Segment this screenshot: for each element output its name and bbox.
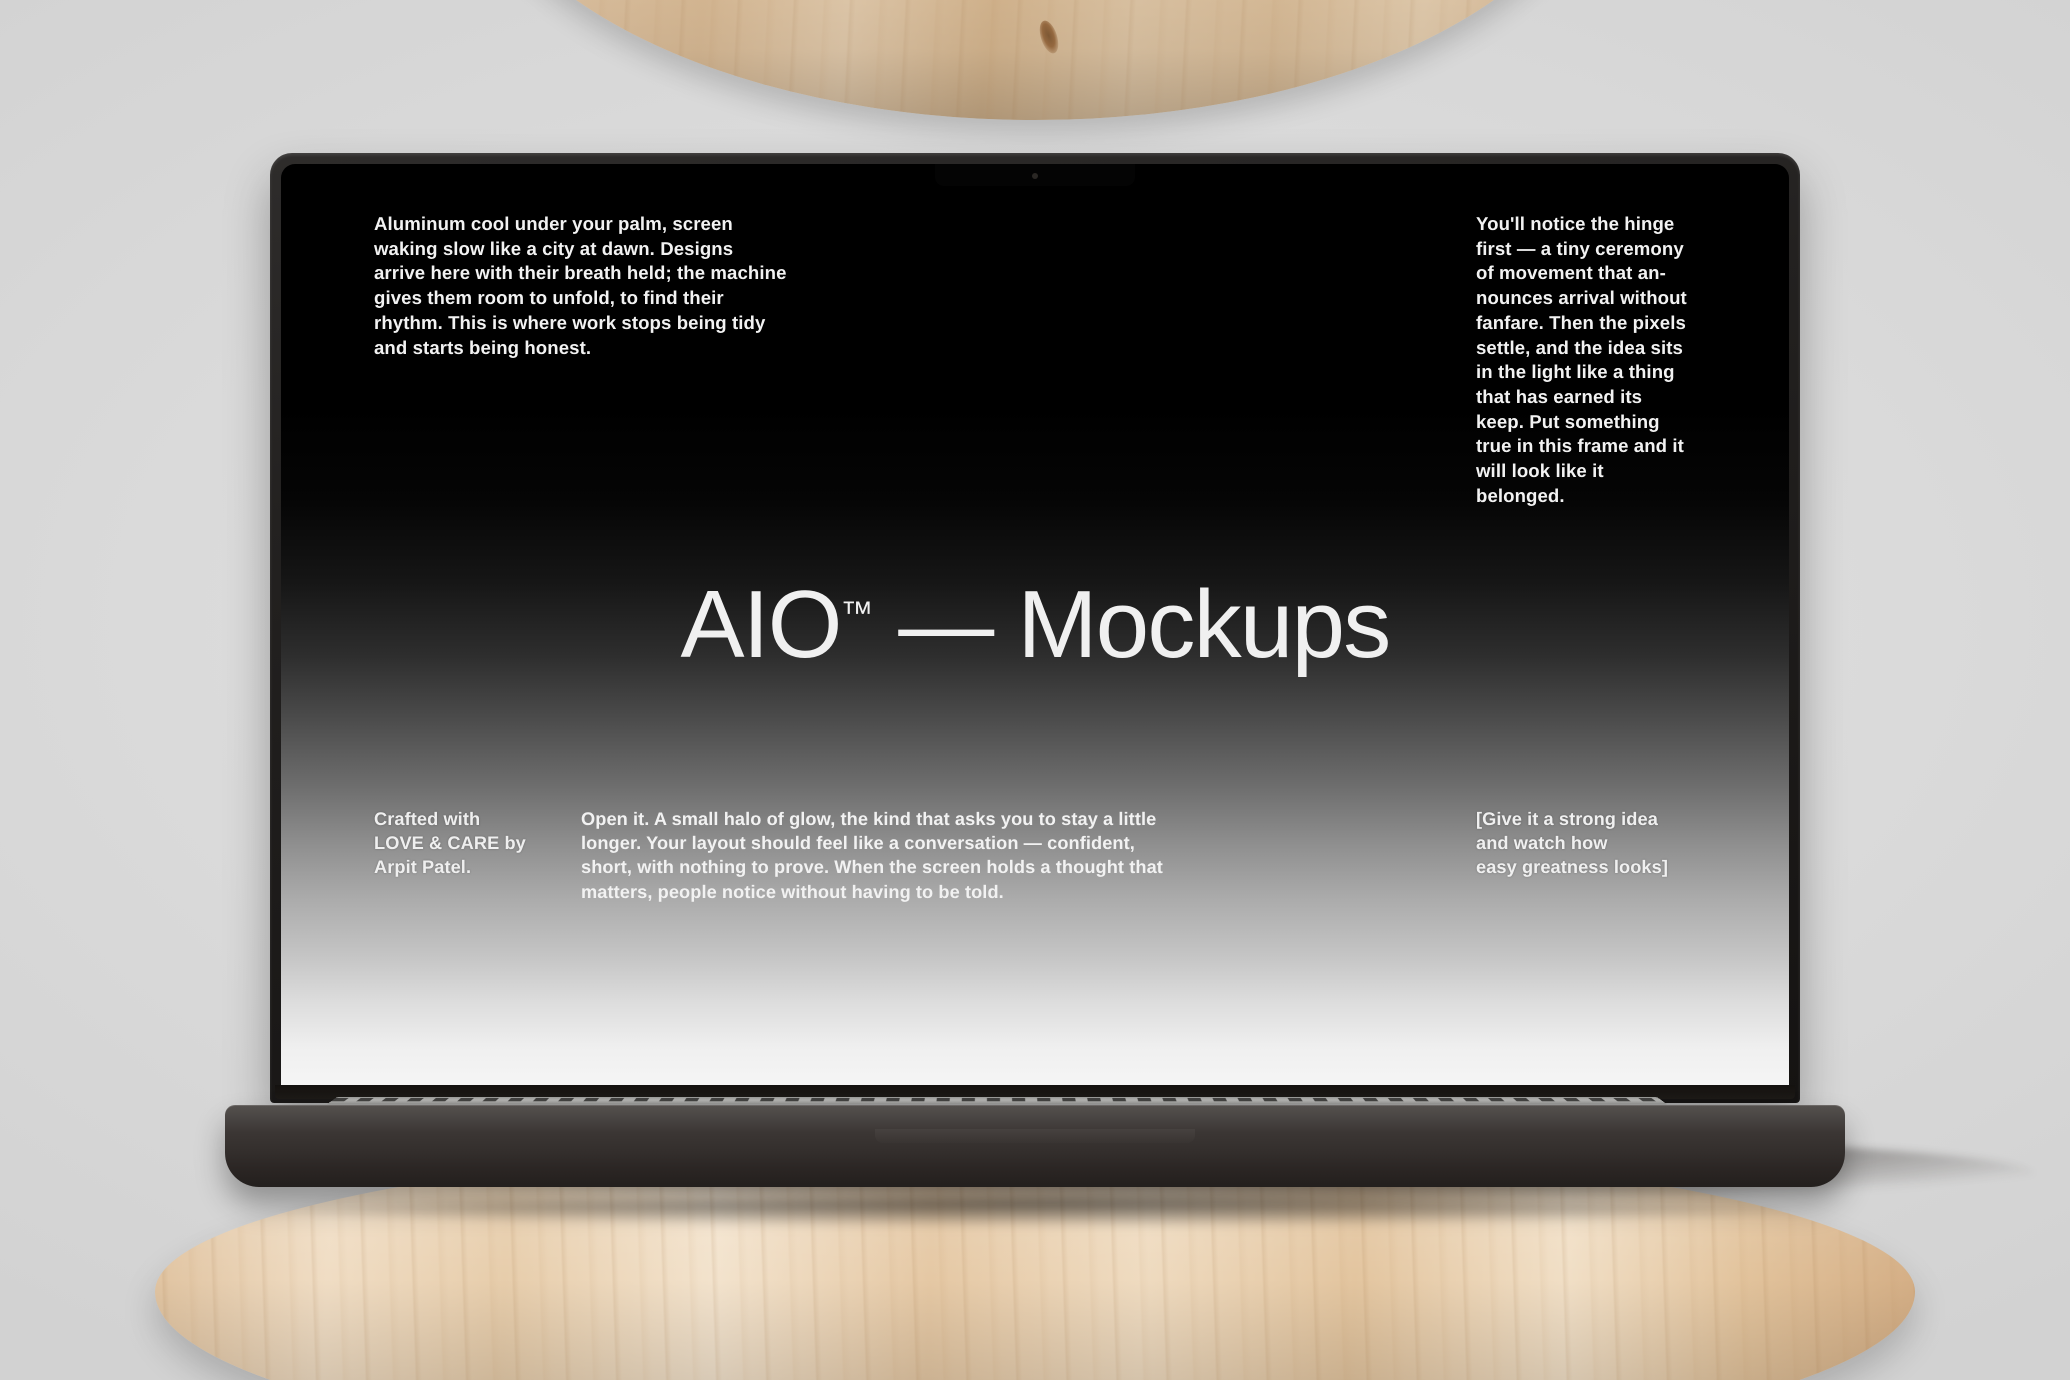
wood-knot: [1036, 18, 1062, 55]
laptop-lid: Aluminum cool under your palm, screen wa…: [270, 153, 1800, 1103]
hero-title: AIO™ — Mockups: [281, 577, 1789, 673]
hero-separator: —: [873, 571, 1017, 678]
credit-block: Crafted with LOVE & CARE by Arpit Patel.: [374, 807, 574, 880]
note-line-3: easy greatness looks]: [1476, 857, 1668, 877]
hero-brand: AIO: [680, 571, 840, 678]
credit-line-2: LOVE & CARE by: [374, 833, 526, 853]
top-left-paragraph: Aluminum cool under your palm, screen wa…: [374, 212, 789, 360]
chair-backrest-panel: [465, 0, 1605, 120]
bottom-center-paragraph: Open it. A small halo of glow, the kind …: [581, 807, 1181, 904]
top-right-paragraph: You'll notice the hinge first — a tiny c…: [1476, 212, 1694, 509]
webcam-icon: [1032, 173, 1038, 179]
hero-product: Mockups: [1017, 571, 1389, 678]
credit-line-3: Arpit Patel.: [374, 857, 471, 877]
bottom-right-note: [Give it a strong idea and watch how eas…: [1476, 807, 1694, 880]
keyboard-keys[interactable]: [331, 1098, 1663, 1101]
scene-root: Aluminum cool under your palm, screen wa…: [0, 0, 2070, 1380]
laptop-screen[interactable]: Aluminum cool under your palm, screen wa…: [281, 164, 1789, 1094]
note-line-2: and watch how: [1476, 833, 1608, 853]
keyboard-deck[interactable]: [326, 1097, 1667, 1105]
chair-backrest: [465, 0, 1605, 120]
laptop-contact-shadow: [265, 1199, 1805, 1225]
trademark-symbol: ™: [841, 594, 874, 631]
laptop-device: Aluminum cool under your palm, screen wa…: [225, 153, 1845, 1208]
screen-content: Aluminum cool under your palm, screen wa…: [281, 164, 1789, 1094]
trackpad[interactable]: [875, 1129, 1195, 1143]
note-line-1: [Give it a strong idea: [1476, 809, 1658, 829]
credit-line-1: Crafted with: [374, 809, 480, 829]
laptop-base: [225, 1085, 1845, 1203]
laptop-chassis: [225, 1105, 1845, 1187]
